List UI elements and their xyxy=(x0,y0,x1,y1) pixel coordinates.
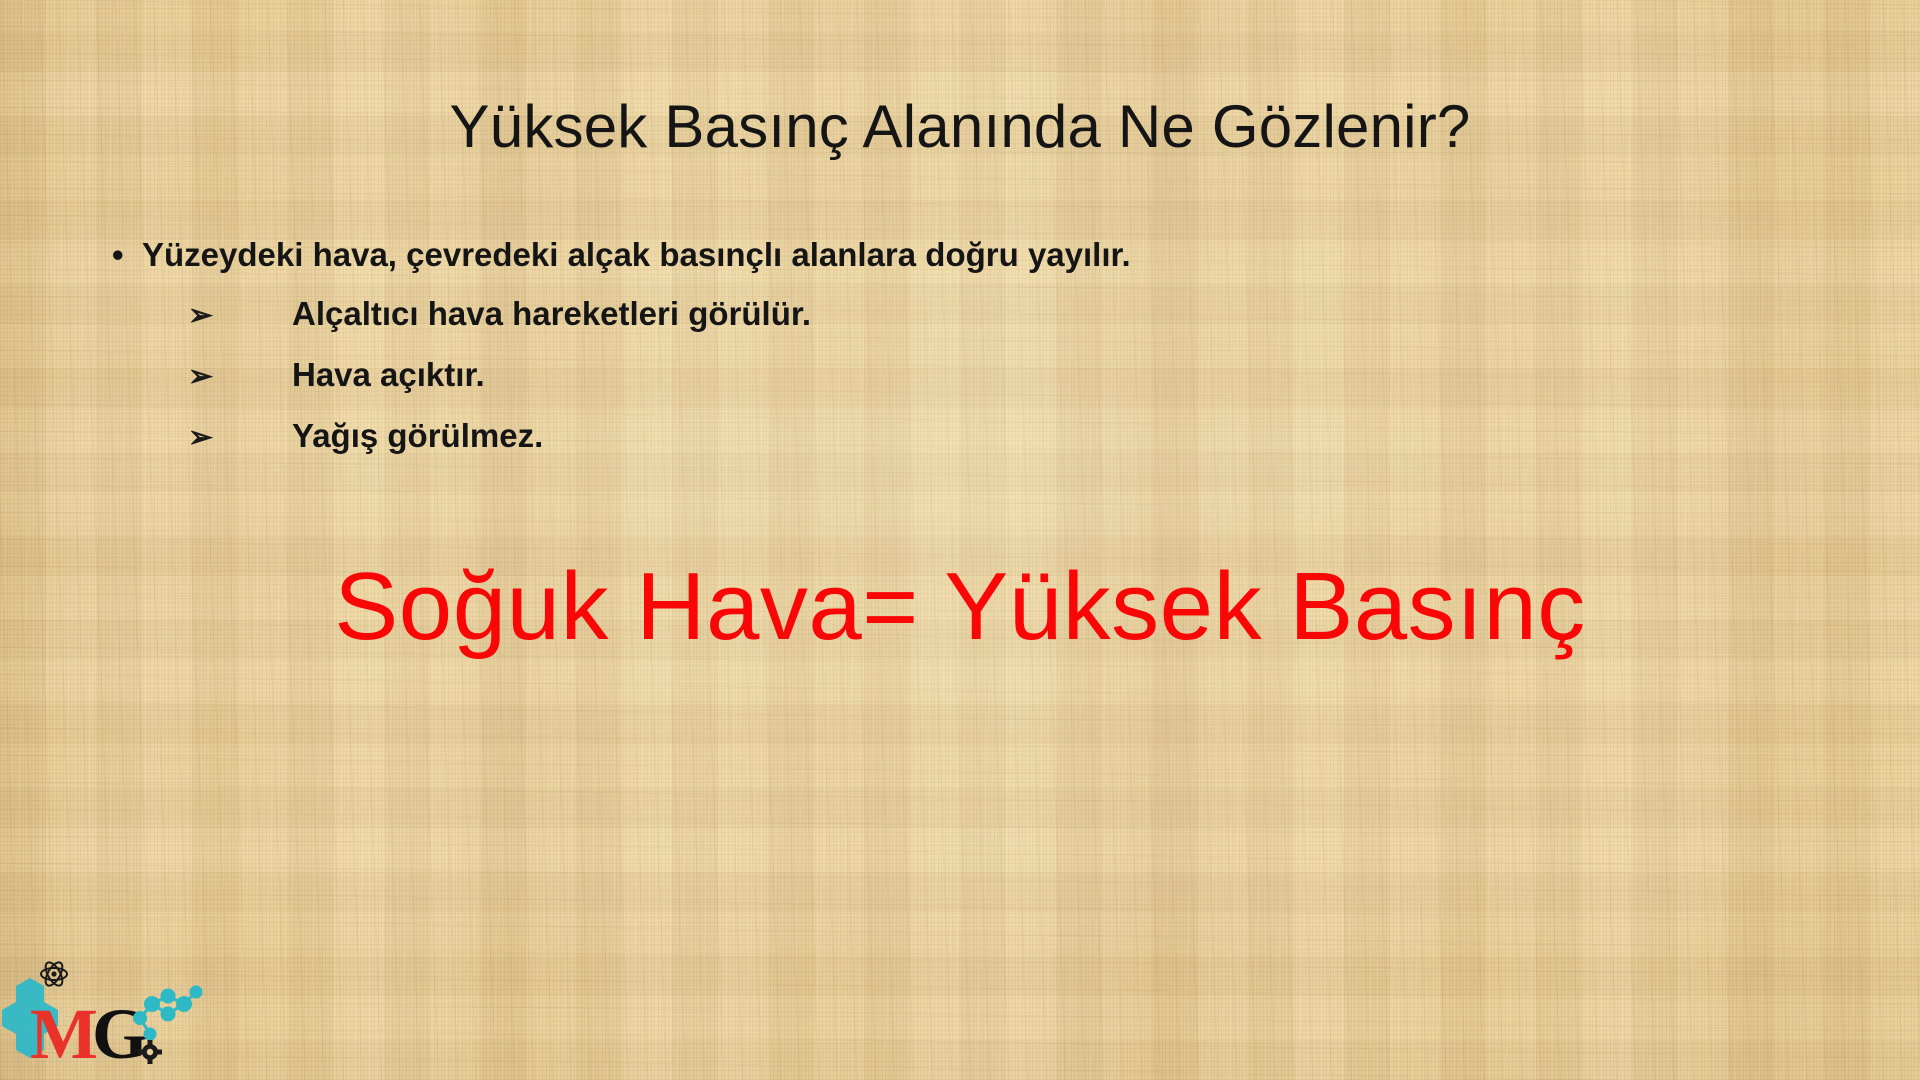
sub-bullet-item: ➢ Hava açıktır. xyxy=(188,358,1840,392)
presentation-slide: Yüksek Basınç Alanında Ne Gözlenir? • Yü… xyxy=(0,0,1920,1080)
bullet-item-label: Yüzeydeki hava, çevredeki alçak basınçlı… xyxy=(142,238,1840,271)
slide-body-list: • Yüzeydeki hava, çevredeki alçak basınç… xyxy=(112,238,1840,480)
arrow-right-icon: ➢ xyxy=(188,301,292,331)
sub-bullet-item-label: Alçaltıcı hava hareketleri görülür. xyxy=(292,297,1840,330)
atom-icon xyxy=(41,960,67,989)
slide-title: Yüksek Basınç Alanında Ne Gözlenir? xyxy=(0,92,1920,161)
mg-logo: M G xyxy=(0,952,210,1072)
mg-logo-graphic: M G xyxy=(0,952,210,1072)
arrow-right-icon: ➢ xyxy=(188,362,292,392)
arrow-right-icon: ➢ xyxy=(188,423,292,453)
bullet-item: • Yüzeydeki hava, çevredeki alçak basınç… xyxy=(112,238,1840,271)
sub-bullet-item-label: Yağış görülmez. xyxy=(292,419,1840,452)
sub-bullet-item-label: Hava açıktır. xyxy=(292,358,1840,391)
sub-bullet-item: ➢ Yağış görülmez. xyxy=(188,419,1840,453)
slide-content: Yüksek Basınç Alanında Ne Gözlenir? • Yü… xyxy=(0,0,1920,1080)
sub-bullet-item: ➢ Alçaltıcı hava hareketleri görülür. xyxy=(188,297,1840,331)
bullet-dot-icon: • xyxy=(112,238,142,271)
logo-letter-g: G xyxy=(92,994,148,1072)
logo-letter-m: M xyxy=(30,994,98,1072)
headline-emphasis-text: Soğuk Hava= Yüksek Basınç xyxy=(0,552,1920,662)
